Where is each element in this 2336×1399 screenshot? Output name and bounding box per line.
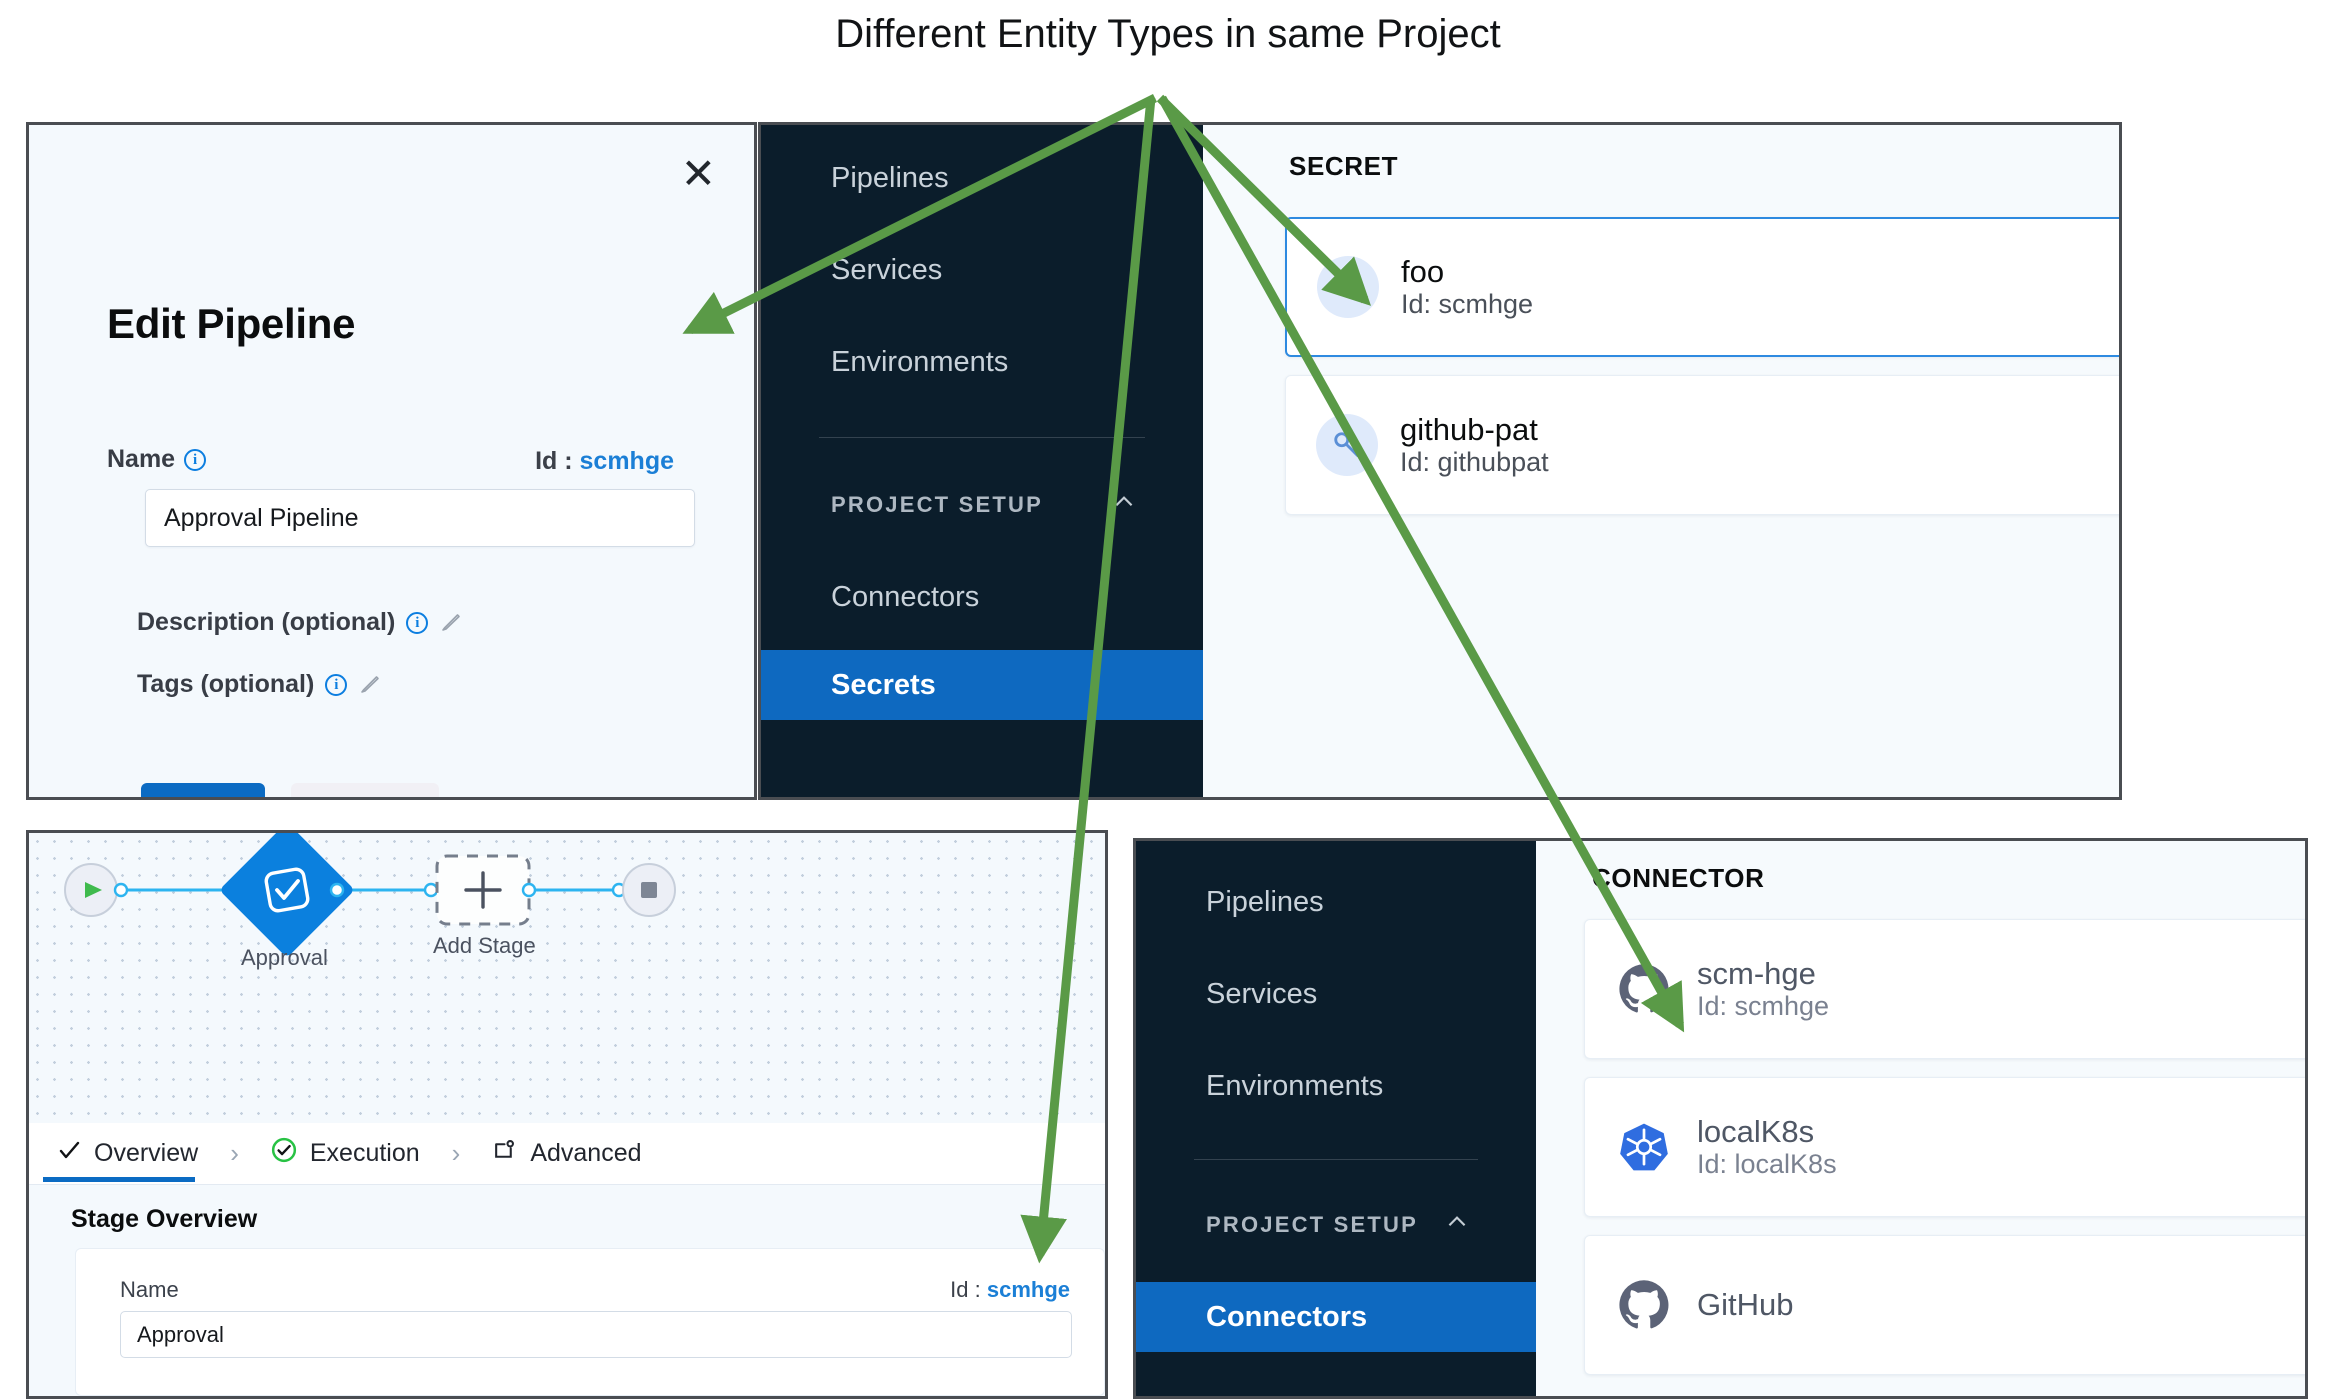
save-button[interactable]: Save [141, 783, 265, 800]
list-item-name: GitHub [1697, 1288, 1793, 1323]
tab-label: Overview [94, 1139, 198, 1168]
id-value[interactable]: scmhge [580, 447, 674, 475]
sidebar-item-label: Services [1206, 978, 1317, 1011]
tab-label: Advanced [530, 1139, 641, 1168]
list-item-id: Id: scmhge [1697, 991, 1829, 1021]
list-item-name: github-pat [1400, 413, 1549, 448]
list-item-text: localK8s Id: localK8s [1697, 1115, 1837, 1180]
secret-list-column: SECRET foo Id: scmhge [1203, 125, 2122, 797]
edit-pipeline-panel: ✕ Edit Pipeline Name i Id : scmhge Appro… [26, 122, 757, 800]
stage-node-label: Approval [241, 945, 328, 971]
key-icon [1316, 414, 1378, 476]
list-item-text: foo Id: scmhge [1401, 255, 1533, 320]
sidebar-item-label: Services [831, 254, 942, 287]
list-item-name: localK8s [1697, 1115, 1837, 1150]
sidebar-section-label: PROJECT SETUP [831, 492, 1043, 518]
description-row: Description (optional) i [137, 608, 463, 637]
list-item-id: Id: githubpat [1400, 447, 1549, 477]
stage-name-input[interactable]: Approval [120, 1311, 1072, 1358]
list-item-text: scm-hge Id: scmhge [1697, 957, 1829, 1022]
stage-name-label: Name [120, 1277, 179, 1303]
tab-advanced[interactable]: Advanced [492, 1123, 641, 1184]
sidebar-item-label: Pipelines [831, 162, 949, 195]
stage-name-value: Approval [137, 1322, 224, 1348]
secrets-screen-panel: Pipelines Services Environments PROJECT … [758, 122, 2122, 800]
sidebar-section-project-setup[interactable]: PROJECT SETUP [761, 474, 1203, 536]
close-icon[interactable]: ✕ [681, 153, 716, 195]
connectors-sidebar: Pipelines Services Environments PROJECT … [1136, 841, 1536, 1396]
pencil-icon[interactable] [439, 611, 463, 635]
info-icon[interactable]: i [406, 612, 428, 634]
sidebar-item-label: Connectors [831, 581, 979, 614]
check-icon [57, 1138, 81, 1169]
sidebar-item-connectors[interactable]: Connectors [761, 562, 1203, 632]
advanced-icon [492, 1138, 517, 1170]
sidebar-section-project-setup[interactable]: PROJECT SETUP [1136, 1194, 1536, 1256]
list-item[interactable]: localK8s Id: localK8s [1584, 1077, 2308, 1217]
github-icon [1613, 958, 1675, 1020]
description-label: Description (optional) [137, 608, 395, 637]
dialog-title: Edit Pipeline [107, 300, 355, 348]
chevron-up-icon [1444, 1209, 1470, 1242]
sidebar-divider [1194, 1159, 1478, 1160]
sidebar-item-label: Pipelines [1206, 886, 1324, 919]
connector-list-header: CONNECTOR [1592, 863, 1764, 894]
info-icon[interactable]: i [325, 674, 347, 696]
tab-label: Execution [310, 1139, 420, 1168]
sidebar-item-pipelines[interactable]: Pipelines [1136, 867, 1536, 937]
stage-tabs: Overview › Execution › Advanced [29, 1123, 1105, 1185]
name-label-row: Name i [107, 445, 206, 474]
info-icon[interactable]: i [184, 449, 206, 471]
pipeline-name-input[interactable]: Approval Pipeline [145, 489, 695, 547]
page-title: Different Entity Types in same Project [0, 12, 2336, 57]
check-circle-icon [271, 1137, 297, 1170]
sidebar-item-connectors[interactable]: Connectors [1136, 1282, 1536, 1352]
cancel-button[interactable]: Cancel [291, 783, 439, 800]
key-icon [1317, 256, 1379, 318]
list-item[interactable]: GitHub [1584, 1235, 2308, 1375]
pipeline-canvas[interactable]: Approval Add Stage [29, 833, 1105, 1123]
sidebar-item-pipelines[interactable]: Pipelines [761, 143, 1203, 213]
stage-overview-card: Name Id : scmhge Approval [75, 1248, 1105, 1396]
stage-id-prefix: Id : [950, 1277, 987, 1302]
sidebar-item-label: Environments [831, 346, 1008, 379]
sidebar-item-services[interactable]: Services [1136, 959, 1536, 1029]
list-item[interactable]: github-pat Id: githubpat [1285, 375, 2122, 515]
sidebar-item-label: Secrets [831, 669, 936, 702]
name-label: Name [107, 445, 175, 474]
list-item[interactable]: foo Id: scmhge [1285, 217, 2122, 357]
sidebar-item-environments[interactable]: Environments [1136, 1051, 1536, 1121]
sidebar-item-environments[interactable]: Environments [761, 327, 1203, 397]
tags-row: Tags (optional) i [137, 670, 382, 699]
list-item-id: Id: localK8s [1697, 1149, 1837, 1179]
tags-label: Tags (optional) [137, 670, 314, 699]
list-item[interactable]: scm-hge Id: scmhge [1584, 919, 2308, 1059]
stage-overview-heading: Stage Overview [71, 1205, 257, 1234]
sidebar-item-label: Environments [1206, 1070, 1383, 1103]
github-icon [1613, 1274, 1675, 1336]
tab-overview[interactable]: Overview [57, 1123, 198, 1184]
sidebar-item-services[interactable]: Services [761, 235, 1203, 305]
chevron-up-icon [1111, 489, 1137, 522]
stage-overview-section: Stage Overview Name Id : scmhge Approval [29, 1185, 1105, 1396]
secrets-sidebar: Pipelines Services Environments PROJECT … [761, 125, 1203, 797]
sidebar-item-secrets[interactable]: Secrets [761, 650, 1203, 720]
list-item-text: GitHub [1697, 1288, 1793, 1323]
list-item-name: foo [1401, 255, 1533, 290]
list-item-name: scm-hge [1697, 957, 1829, 992]
list-item-text: github-pat Id: githubpat [1400, 413, 1549, 478]
sidebar-divider [819, 437, 1145, 438]
id-prefix: Id : [535, 447, 579, 475]
connectors-screen-panel: Pipelines Services Environments PROJECT … [1133, 838, 2308, 1399]
connector-list-column: CONNECTOR scm-hge Id: scmhge [1536, 841, 2305, 1396]
secret-list-header: SECRET [1289, 151, 1398, 182]
pipeline-name-value: Approval Pipeline [164, 504, 359, 533]
list-item-id: Id: scmhge [1401, 289, 1533, 319]
add-stage-label: Add Stage [433, 933, 536, 959]
tab-separator-icon: › [452, 1138, 461, 1169]
tab-execution[interactable]: Execution [271, 1123, 420, 1184]
stage-id-value[interactable]: scmhge [987, 1277, 1070, 1302]
sidebar-item-label: Connectors [1206, 1301, 1367, 1334]
kubernetes-icon [1613, 1116, 1675, 1178]
stage-id: Id : scmhge [950, 1277, 1070, 1303]
sidebar-section-label: PROJECT SETUP [1206, 1212, 1418, 1238]
pipeline-id: Id : scmhge [535, 447, 674, 476]
active-tab-underline [43, 1177, 195, 1182]
tab-separator-icon: › [230, 1138, 239, 1169]
pipeline-studio-panel: Approval Add Stage Overview › Execution … [26, 830, 1108, 1399]
pencil-icon[interactable] [358, 673, 382, 697]
